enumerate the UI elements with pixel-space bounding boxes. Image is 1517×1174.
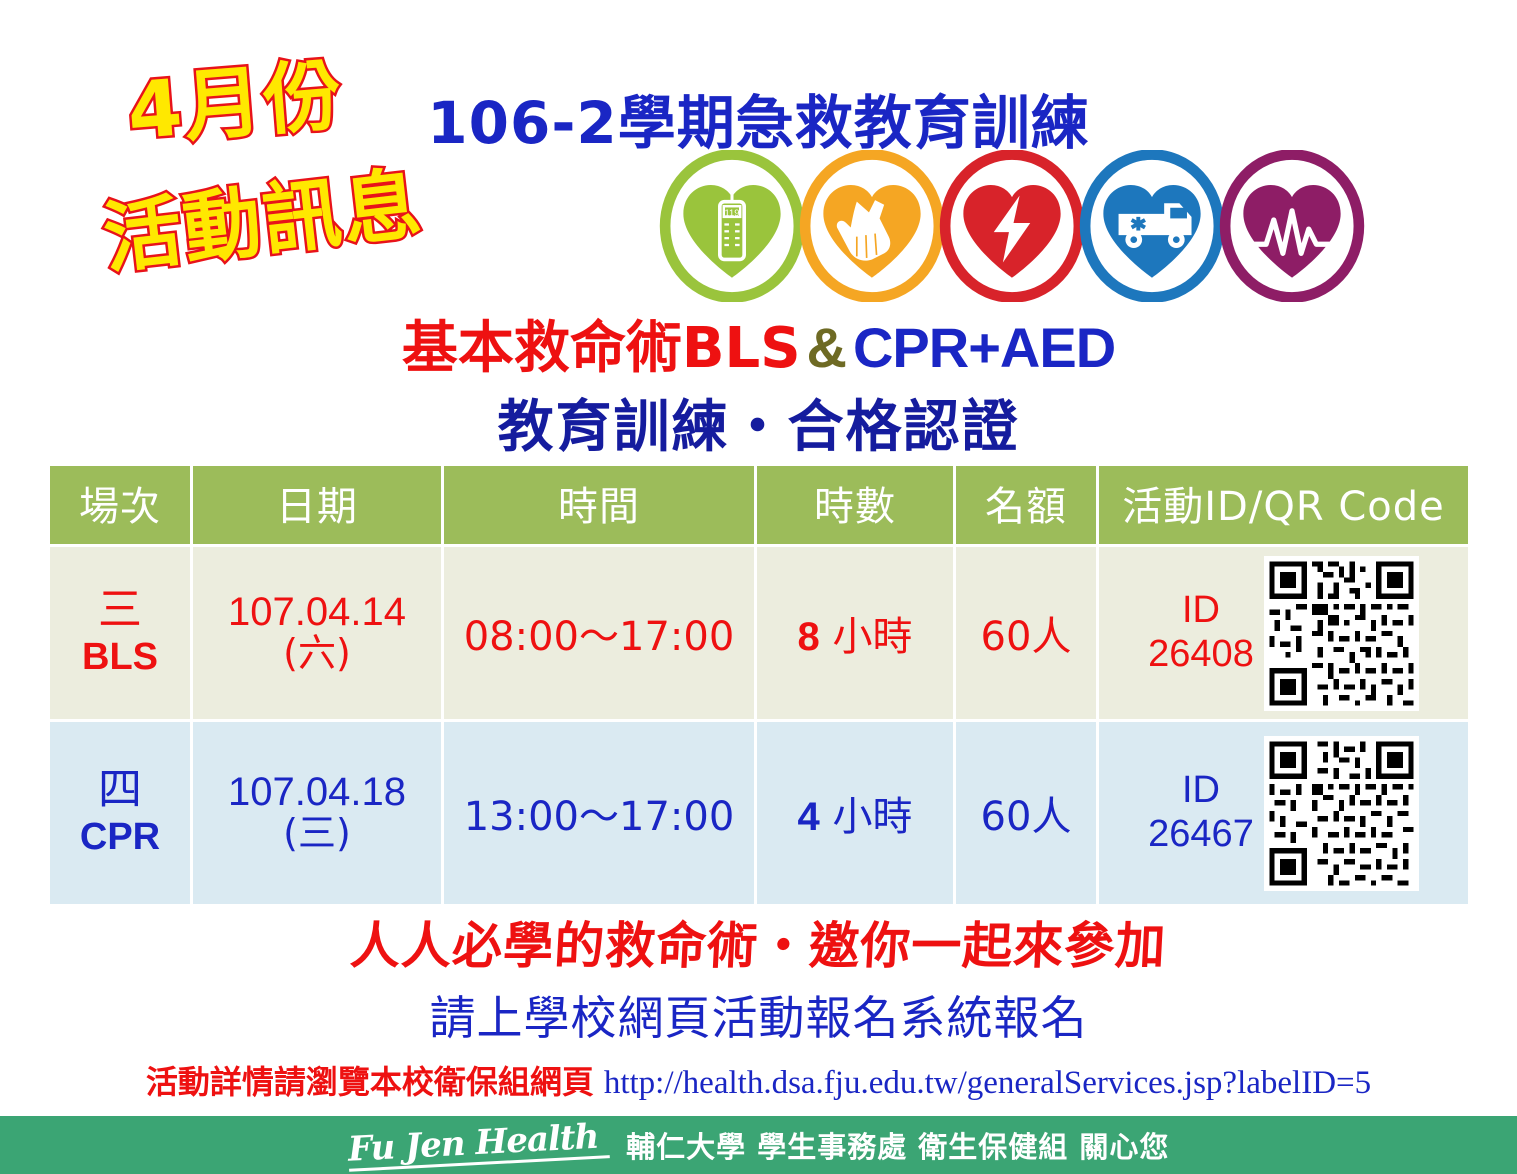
cell-session: 四 CPR	[50, 722, 190, 904]
table-row: 四 CPR 107.04.18 (三) 13:00〜17:00 4 小時 60人…	[50, 722, 1468, 904]
heart-icon-row: 119	[656, 150, 1346, 302]
phone-119-heart-icon: 119	[656, 150, 808, 302]
course-title-cpr: CPR+AED	[853, 316, 1115, 379]
defibrillation-bolt-heart-icon	[936, 150, 1088, 302]
cell-time: 08:00〜17:00	[444, 547, 754, 719]
weekday-value: (六)	[195, 633, 439, 675]
column-header-id-qr: 活動ID/QR Code	[1099, 466, 1468, 544]
page-title: 106-2學期急救教育訓練	[0, 76, 1517, 160]
ambulance-heart-icon	[1076, 150, 1228, 302]
footer-organization-text: 輔仁大學 學生事務處 衛生保健組 關心您	[626, 1124, 1169, 1166]
ecg-pulse-heart-icon	[1216, 150, 1368, 302]
fu-jen-health-logo: Fu Jen Health	[347, 1119, 609, 1172]
details-url-link[interactable]: http://health.dsa.fju.edu.tw/generalServ…	[604, 1065, 1371, 1101]
details-url-prefix: 活動詳情請瀏覽本校衛保組網頁	[146, 1063, 594, 1101]
table-row: 三 BLS 107.04.14 (六) 08:00〜17:00 8 小時 60人…	[50, 547, 1468, 719]
certification-subtitle: 教育訓練・合格認證	[0, 382, 1517, 463]
duration-number: 8	[798, 615, 820, 659]
course-title-bls: 基本救命術BLS	[402, 316, 801, 381]
session-number: 三	[52, 587, 188, 633]
date-value: 107.04.18	[195, 771, 439, 813]
activity-id-value: 26408	[1148, 633, 1254, 675]
column-header-time: 時間	[444, 466, 754, 544]
activity-id-label: ID	[1182, 769, 1220, 811]
glove-hand-heart-icon	[796, 150, 948, 302]
duration-number: 4	[798, 795, 820, 839]
cell-date: 107.04.14 (六)	[193, 547, 441, 719]
details-url-line: 活動詳情請瀏覽本校衛保組網頁http://health.dsa.fju.edu.…	[0, 1057, 1517, 1103]
date-value: 107.04.14	[195, 591, 439, 633]
column-header-date: 日期	[193, 466, 441, 544]
session-number: 四	[52, 767, 188, 813]
column-header-capacity: 名額	[956, 466, 1096, 544]
cell-id-qr: ID 26467	[1099, 722, 1468, 904]
page-title-text: 106-2學期急救教育訓練	[427, 89, 1090, 157]
qr-code-icon[interactable]	[1264, 556, 1419, 711]
weekday-value: (三)	[195, 813, 439, 855]
cell-time: 13:00〜17:00	[444, 722, 754, 904]
schedule-table: 場次 日期 時間 時數 名額 活動ID/QR Code 三 BLS 107.04…	[47, 463, 1471, 907]
svg-text:119: 119	[725, 207, 740, 218]
cell-date: 107.04.18 (三)	[193, 722, 441, 904]
column-header-session: 場次	[50, 466, 190, 544]
cell-id-qr: ID 26408	[1099, 547, 1468, 719]
table-header-row: 場次 日期 時間 時數 名額 活動ID/QR Code	[50, 466, 1468, 544]
cell-session: 三 BLS	[50, 547, 190, 719]
cell-duration: 4 小時	[757, 722, 953, 904]
footer-bar: Fu Jen Health 輔仁大學 學生事務處 衛生保健組 關心您	[0, 1116, 1517, 1174]
session-code: BLS	[52, 636, 188, 679]
duration-unit: 小時	[820, 614, 913, 660]
course-title: 基本救命術BLS&CPR+AED	[0, 303, 1517, 384]
session-code: CPR	[52, 816, 188, 859]
promo-slogan: 人人必學的救命術・邀你一起來參加	[0, 906, 1517, 978]
qr-code-icon[interactable]	[1264, 736, 1419, 891]
registration-notice: 請上學校網頁活動報名系統報名	[0, 982, 1517, 1048]
poster-canvas: 4月份 活動訊息 106-2學期急救教育訓練 119	[0, 0, 1517, 1174]
duration-unit: 小時	[820, 794, 913, 840]
column-header-duration: 時數	[757, 466, 953, 544]
course-title-ampersand: &	[801, 316, 853, 379]
cell-capacity: 60人	[956, 547, 1096, 719]
activity-id-label: ID	[1182, 589, 1220, 631]
cell-capacity: 60人	[956, 722, 1096, 904]
cell-duration: 8 小時	[757, 547, 953, 719]
activity-id-value: 26467	[1148, 813, 1254, 855]
